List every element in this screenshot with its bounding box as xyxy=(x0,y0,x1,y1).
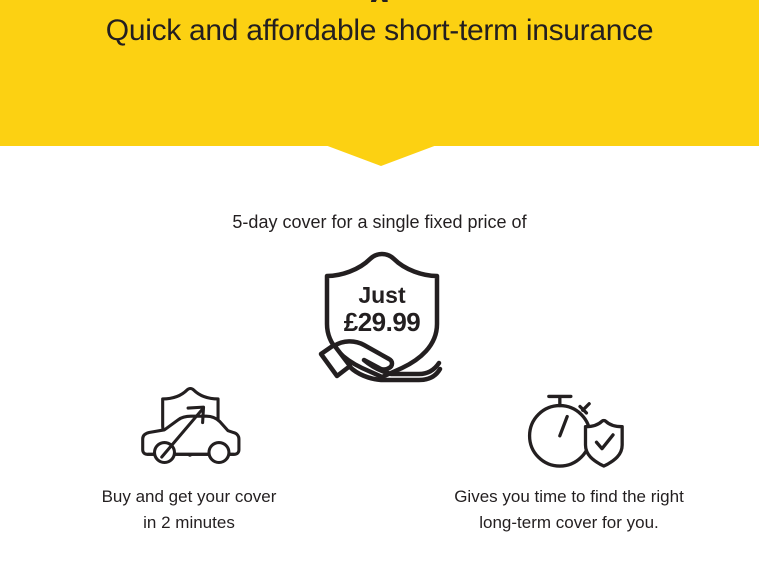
hero-banner: g Quick and affordable short-term insura… xyxy=(0,0,759,146)
feature-right-line-1: Gives you time to find the right xyxy=(409,484,729,510)
car-shield-arrow-icon xyxy=(29,382,349,474)
feature-left-line-1: Buy and get your cover xyxy=(29,484,349,510)
feature-right-label: Gives you time to find the right long-te… xyxy=(409,484,729,536)
price-caption: 5-day cover for a single fixed price of xyxy=(0,212,759,233)
banner-subtitle: Quick and affordable short-term insuranc… xyxy=(0,14,759,48)
banner-pointer-notch xyxy=(325,145,437,166)
feature-buy-in-2-minutes: Buy and get your cover in 2 minutes xyxy=(29,382,349,536)
feature-left-label: Buy and get your cover in 2 minutes xyxy=(29,484,349,536)
feature-left-line-2: in 2 minutes xyxy=(29,510,349,536)
stopwatch-shield-check-icon xyxy=(409,382,729,474)
shield-in-hand-icon xyxy=(307,250,457,390)
clipped-headline-above: g xyxy=(0,0,759,2)
feature-right-line-2: long-term cover for you. xyxy=(409,510,729,536)
feature-long-term-cover: Gives you time to find the right long-te… xyxy=(409,382,729,536)
